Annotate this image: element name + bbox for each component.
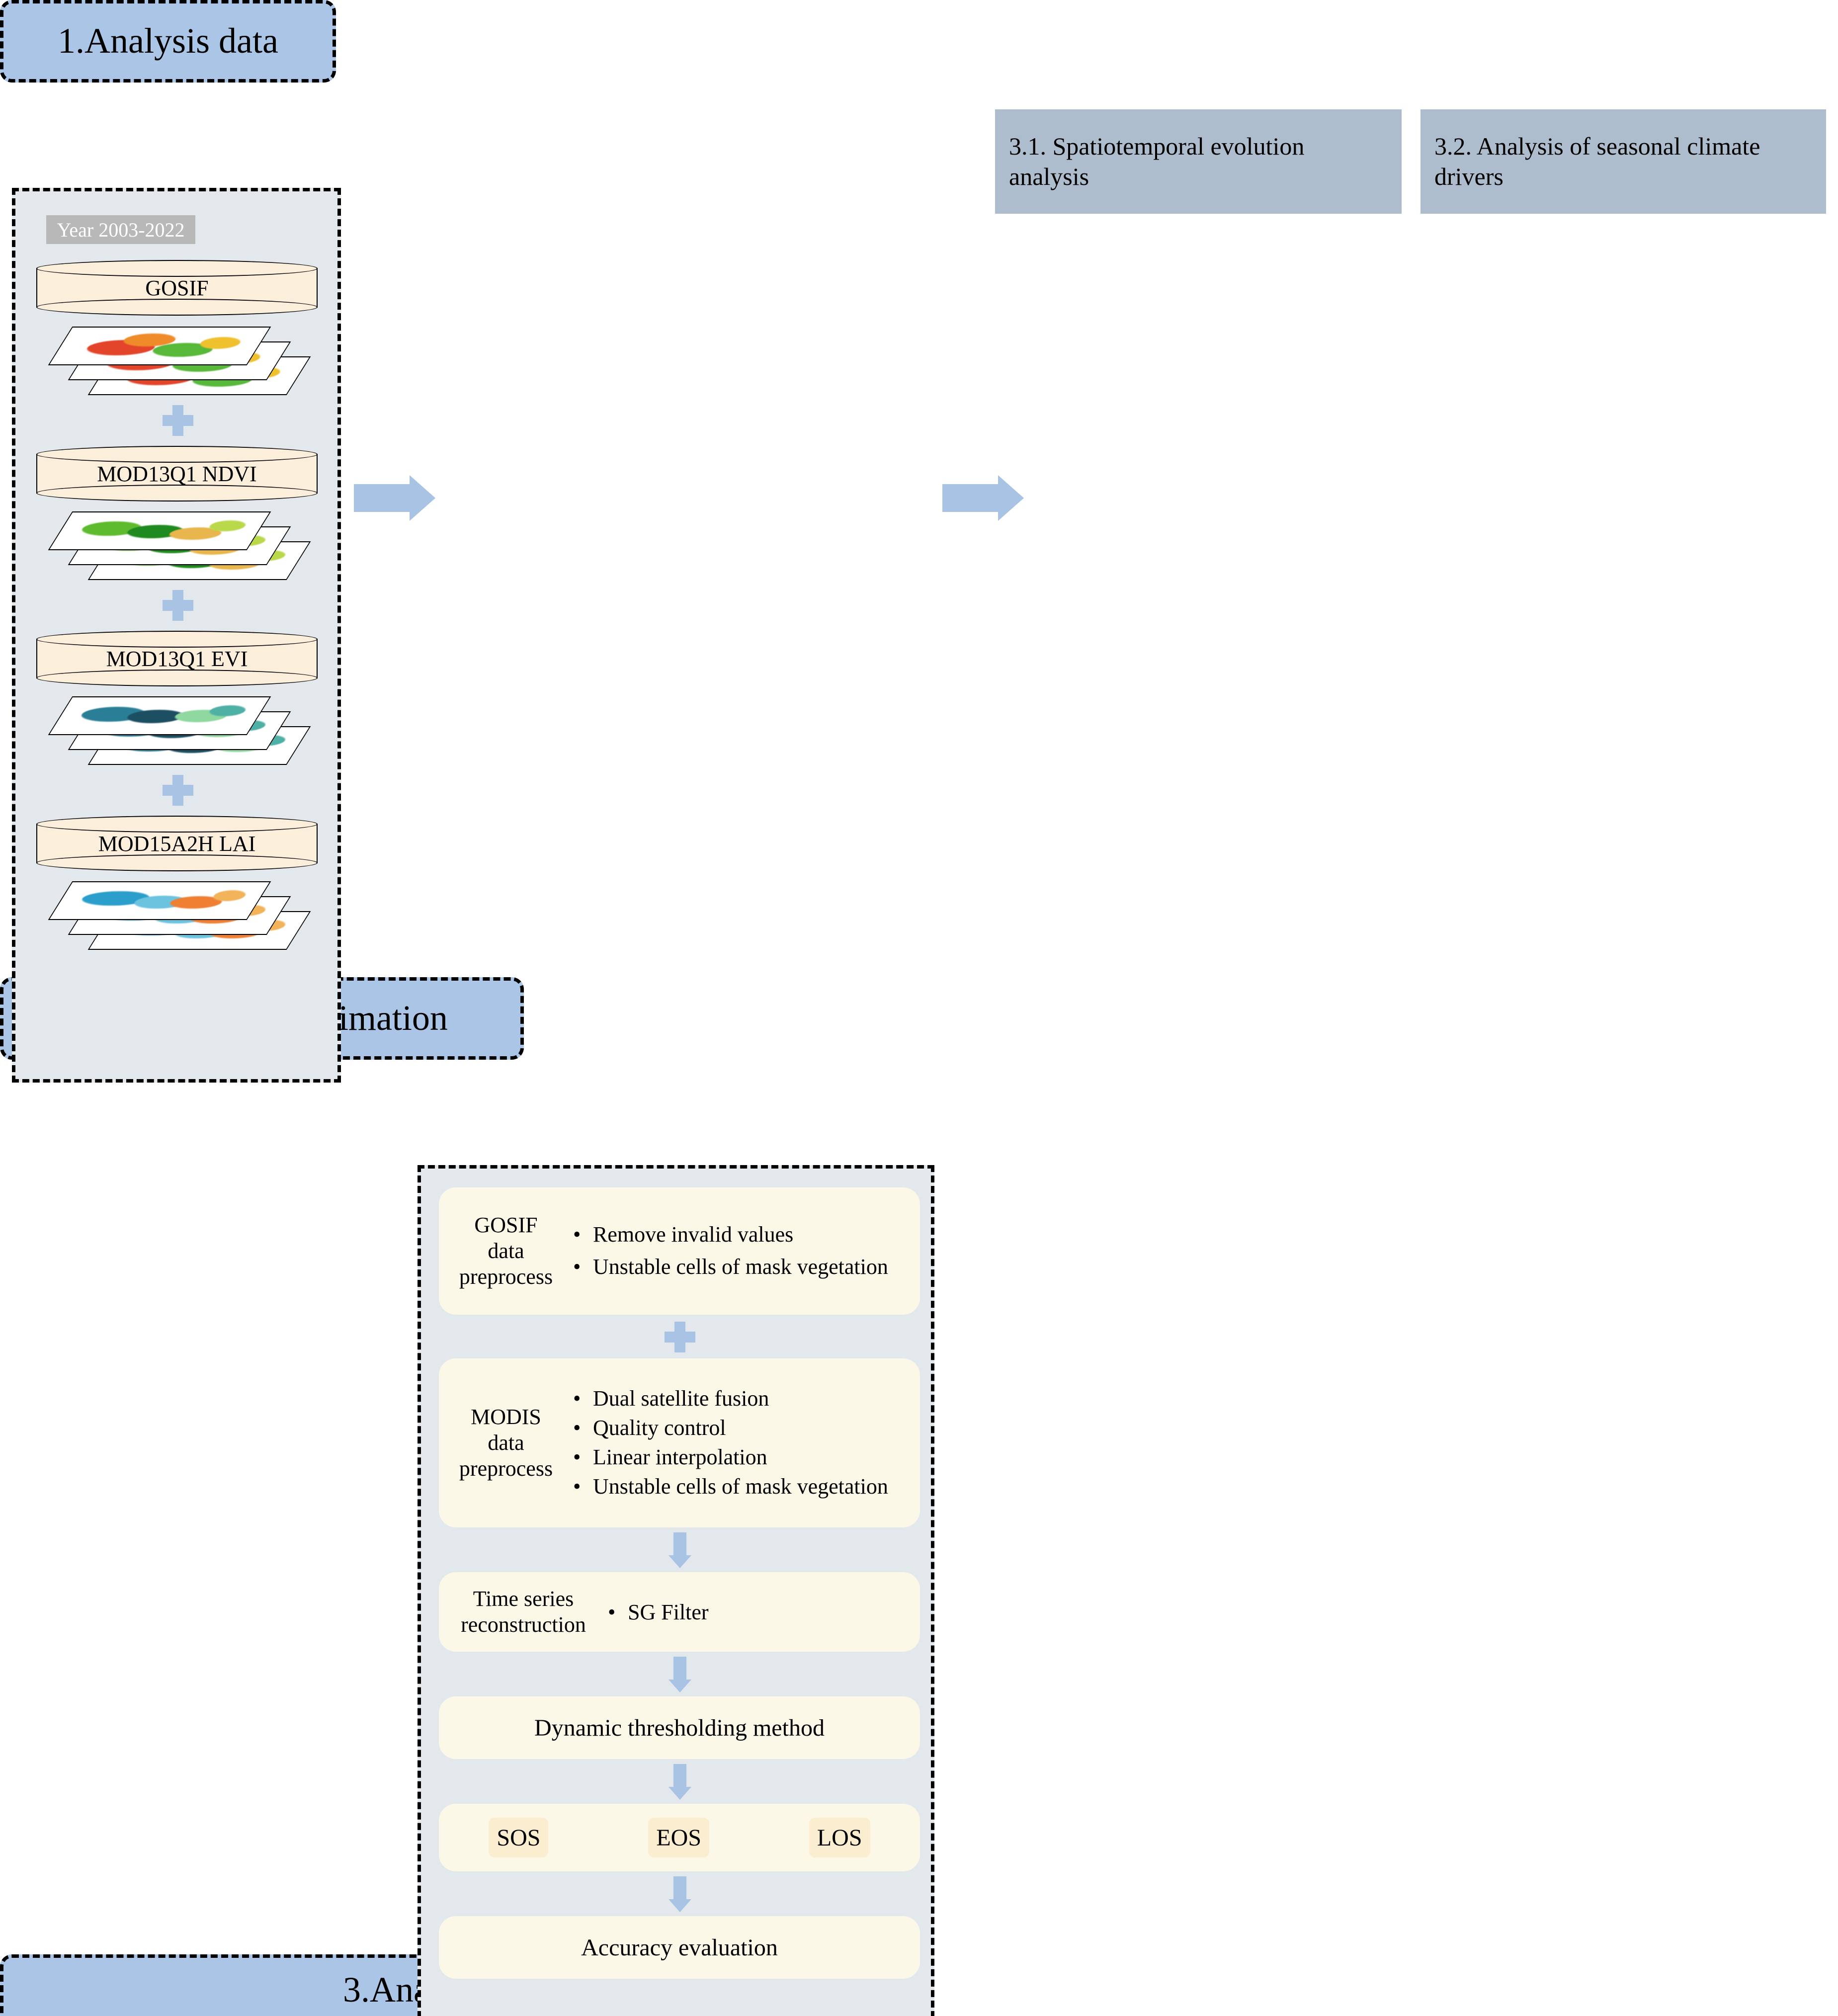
- metric-badge-eos[interactable]: EOS: [648, 1818, 709, 1857]
- bullet-dot-icon: •: [608, 1599, 628, 1625]
- panel1-header-label: 1.Analysis data: [58, 22, 278, 60]
- subsection-3-2-header: 3.2. Analysis of seasonal climate driver…: [1420, 109, 1826, 214]
- panel1-header: 1.Analysis data: [0, 0, 336, 83]
- bullet-dot-icon: •: [573, 1474, 593, 1500]
- dataset-label: MOD13Q1 EVI: [36, 631, 318, 686]
- arrow-modis-to-timeseries: [668, 1532, 691, 1568]
- panel2-body: GOSIF data preprocess •Remove invalid va…: [418, 1165, 934, 2016]
- dataset-cylinder-ndvi[interactable]: MOD13Q1 NDVI: [36, 446, 318, 502]
- subsection-3-2-title: 3.2. Analysis of seasonal climate driver…: [1434, 131, 1812, 192]
- time-series-box: Time series reconstruction •SG Filter: [439, 1572, 920, 1652]
- plus-icon-panel2: [665, 1322, 695, 1352]
- bullet-dot-icon: •: [573, 1415, 593, 1441]
- plus-icon-1: [163, 405, 193, 436]
- gosif-preprocess-box: GOSIF data preprocess •Remove invalid va…: [439, 1187, 920, 1315]
- dynamic-threshold-label: Dynamic thresholding method: [534, 1714, 825, 1742]
- ndvi-map-stack: [45, 509, 314, 584]
- metrics-box: SOS EOS LOS: [439, 1804, 920, 1871]
- arrow-metrics-to-accuracy: [668, 1876, 691, 1912]
- subsection-3-1-header: 3.1. Spatiotemporal evolution analysis: [995, 109, 1402, 214]
- dataset-cylinder-evi[interactable]: MOD13Q1 EVI: [36, 631, 318, 686]
- metric-badge-los[interactable]: LOS: [809, 1818, 870, 1857]
- arrow-timeseries-to-threshold: [668, 1657, 691, 1692]
- gosif-preprocess-label: GOSIF data preprocess: [439, 1212, 573, 1290]
- arrow-panel2-to-panel3: [942, 475, 1024, 521]
- lai-map-stack: [45, 879, 314, 954]
- dataset-label: MOD15A2H LAI: [36, 816, 318, 871]
- dataset-cylinder-gosif[interactable]: GOSIF: [36, 260, 318, 316]
- bullet-dot-icon: •: [573, 1386, 593, 1412]
- plus-icon-3: [163, 775, 193, 806]
- plus-icon-2: [163, 590, 193, 621]
- accuracy-box: Accuracy evaluation: [439, 1916, 920, 1979]
- modis-preprocess-bullets: •Dual satellite fusion •Quality control …: [573, 1386, 920, 1500]
- panel1-body: Year 2003-2022 GOSIF: [12, 188, 341, 1083]
- time-series-bullets: •SG Filter: [608, 1599, 920, 1625]
- gosif-map-stack: [45, 325, 314, 399]
- arrow-panel1-to-panel2: [354, 475, 435, 521]
- year-badge: Year 2003-2022: [46, 215, 195, 244]
- subsection-3-1-title: 3.1. Spatiotemporal evolution analysis: [1009, 131, 1388, 192]
- dataset-cylinder-lai[interactable]: MOD15A2H LAI: [36, 816, 318, 871]
- modis-preprocess-label: MODIS data preprocess: [439, 1404, 573, 1482]
- bullet-dot-icon: •: [573, 1444, 593, 1471]
- time-series-label: Time series reconstruction: [439, 1586, 608, 1638]
- evi-map-stack: [45, 694, 314, 769]
- year-badge-label: Year 2003-2022: [57, 218, 184, 242]
- bullet-dot-icon: •: [573, 1222, 593, 1248]
- flowchart-root: 1.Analysis data Year 2003-2022 GOSIF: [0, 0, 1838, 1008]
- dataset-label: GOSIF: [36, 260, 318, 316]
- dataset-label: MOD13Q1 NDVI: [36, 446, 318, 502]
- accuracy-label: Accuracy evaluation: [581, 1934, 778, 1961]
- bullet-dot-icon: •: [573, 1254, 593, 1280]
- arrow-threshold-to-metrics: [668, 1764, 691, 1800]
- modis-preprocess-box: MODIS data preprocess •Dual satellite fu…: [439, 1358, 920, 1527]
- metric-badge-sos[interactable]: SOS: [489, 1818, 548, 1857]
- dynamic-threshold-box: Dynamic thresholding method: [439, 1696, 920, 1759]
- gosif-preprocess-bullets: •Remove invalid values •Unstable cells o…: [573, 1222, 920, 1280]
